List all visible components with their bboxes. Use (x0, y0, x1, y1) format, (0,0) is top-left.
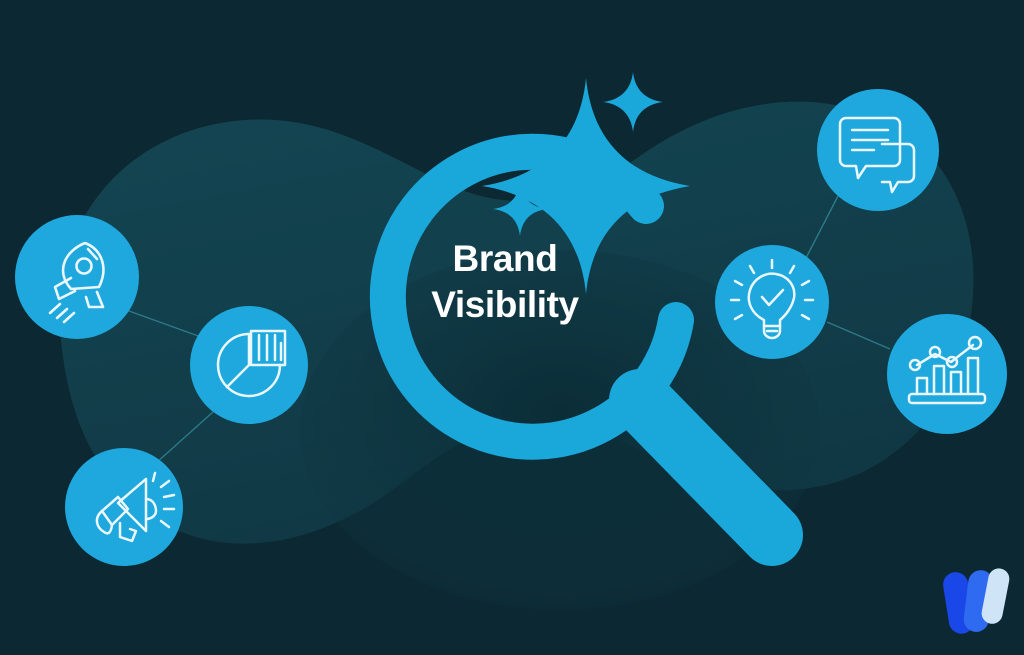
badge-analytics-circle[interactable] (887, 314, 1007, 434)
badge-megaphone-circle[interactable] (65, 448, 183, 566)
badge-chat-circle[interactable] (817, 89, 939, 211)
badge-idea[interactable] (715, 245, 829, 359)
badge-rocket-circle[interactable] (15, 215, 139, 339)
badge-megaphone[interactable] (65, 448, 183, 566)
artwork-layer (0, 0, 1024, 655)
badge-analytics[interactable] (887, 314, 1007, 434)
badge-chat[interactable] (817, 89, 939, 211)
badge-piechart[interactable] (190, 306, 308, 424)
badge-rocket[interactable] (15, 215, 139, 339)
illustration-canvas: Brand Visibility (0, 0, 1024, 655)
